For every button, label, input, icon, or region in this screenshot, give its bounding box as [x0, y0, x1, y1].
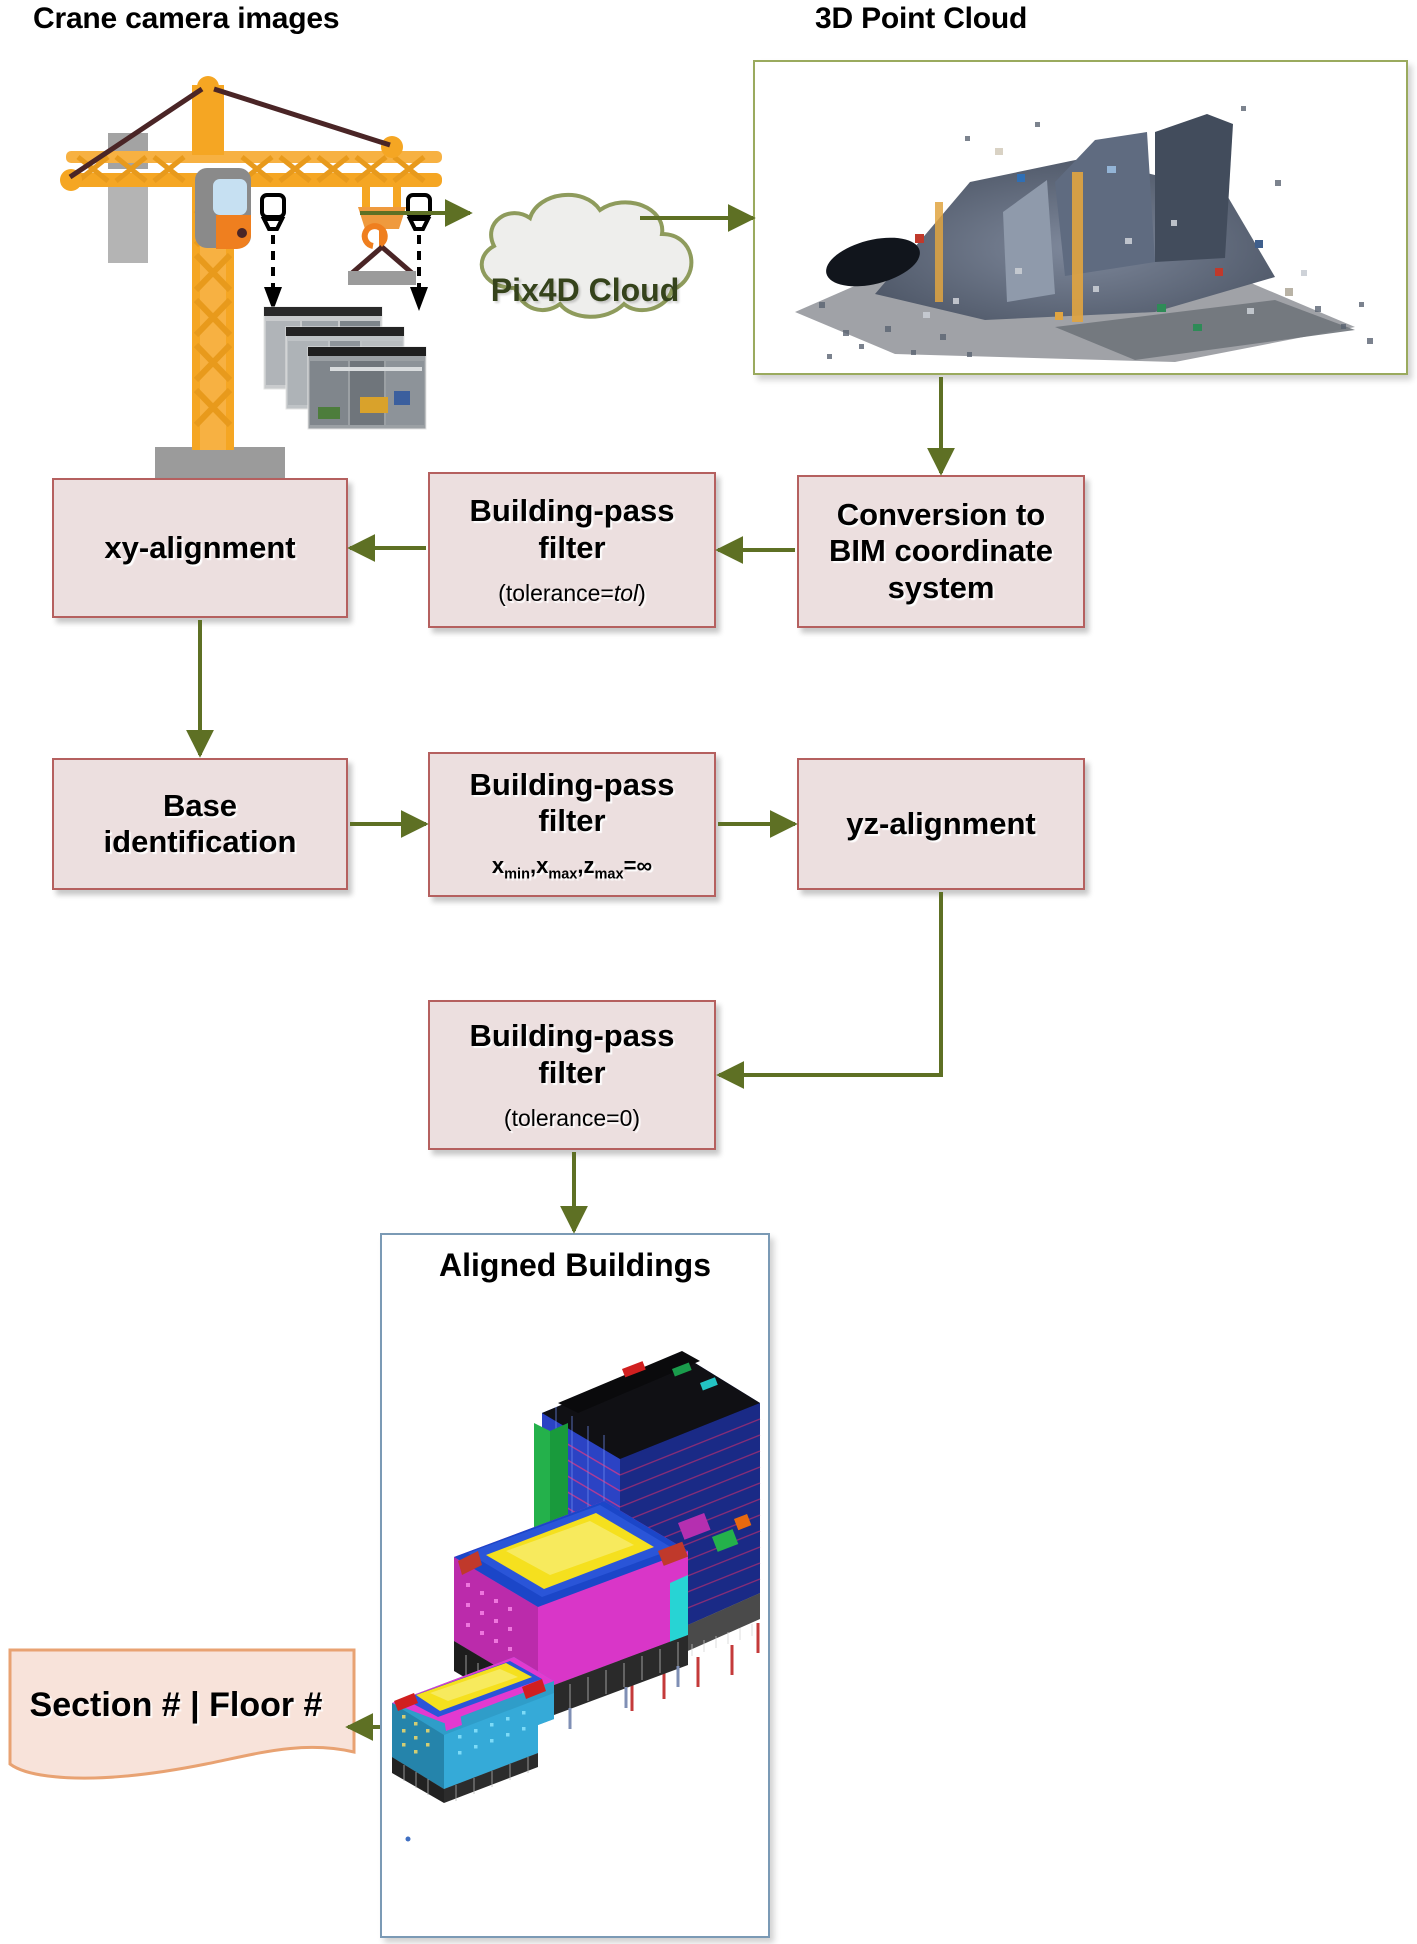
- process-box-xy-alignment[interactable]: xy-alignment: [52, 478, 348, 618]
- process-box-building-pass-filter-tolerance-tol[interactable]: Building-passfilter (tolerance=tol): [428, 472, 716, 628]
- point-cloud-image: [755, 62, 1406, 373]
- process-box-base-identification[interactable]: Baseidentification: [52, 758, 348, 890]
- flowchart-canvas: Crane camera images 3D Point Cloud: [0, 0, 1417, 1944]
- process-box-building-pass-filter-tolerance-zero[interactable]: Building-passfilter (tolerance=0): [428, 1000, 716, 1150]
- tower-crane-illustration: [30, 55, 460, 485]
- page-title-3d-point-cloud: 3D Point Cloud: [815, 2, 1027, 36]
- output-banner-label: Section # | Floor #: [6, 1686, 346, 1725]
- box-title: xy-alignment: [104, 530, 295, 566]
- bim-models-image: [382, 1283, 768, 1933]
- aligned-buildings-title: Aligned Buildings: [382, 1247, 768, 1284]
- cloud-label: Pix4D Cloud: [455, 272, 715, 309]
- box-title: Conversion toBIM coordinatesystem: [829, 497, 1053, 606]
- arrow-yz-to-bpf-zero: [719, 892, 941, 1075]
- box-subtitle: xmin,xmax,zmax=∞: [492, 853, 652, 882]
- page-title-crane-camera-images: Crane camera images: [33, 2, 339, 36]
- box-title: yz-alignment: [846, 806, 1035, 842]
- box-title: Building-passfilter: [470, 493, 675, 566]
- process-box-conversion-to-bim-coordinate-system[interactable]: Conversion toBIM coordinatesystem: [797, 475, 1085, 628]
- process-box-building-pass-filter-infinite[interactable]: Building-passfilter xmin,xmax,zmax=∞: [428, 752, 716, 897]
- box-subtitle: (tolerance=tol): [498, 580, 646, 607]
- box-subtitle: (tolerance=0): [504, 1105, 640, 1132]
- aligned-buildings-panel: Aligned Buildings: [380, 1233, 770, 1938]
- process-box-yz-alignment[interactable]: yz-alignment: [797, 758, 1085, 890]
- box-title: Building-passfilter: [470, 767, 675, 840]
- box-title: Baseidentification: [104, 788, 297, 861]
- box-title: Building-passfilter: [470, 1018, 675, 1091]
- point-cloud-panel: [753, 60, 1408, 375]
